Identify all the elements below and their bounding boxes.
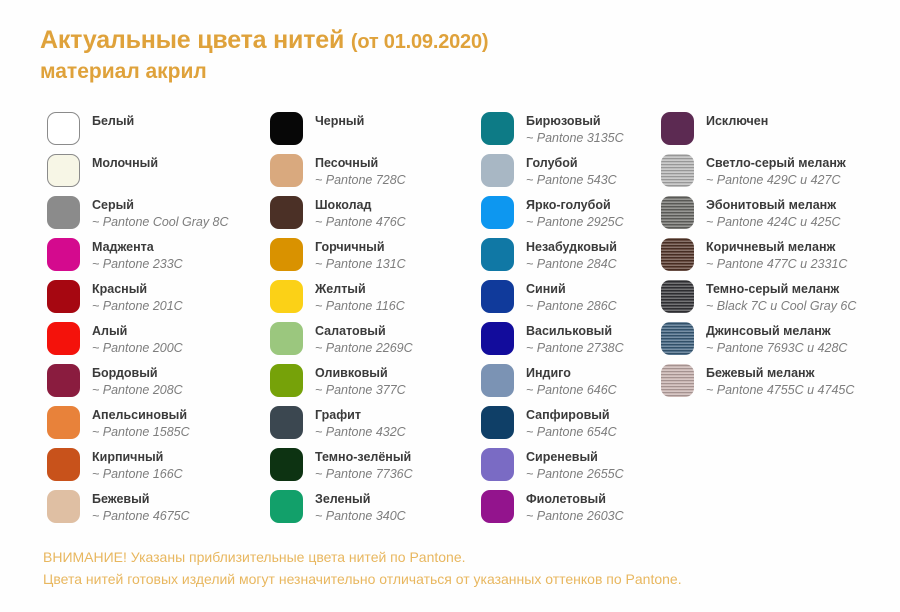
color-labels: Апельсиновый~ Pantone 1585C bbox=[92, 406, 190, 440]
color-row: Молочный bbox=[47, 154, 262, 196]
color-labels: Голубой~ Pantone 543C bbox=[526, 154, 617, 188]
color-labels: Эбонитовый меланж~ Pantone 424C и 425C bbox=[706, 196, 840, 230]
color-name: Сапфировый bbox=[526, 407, 617, 423]
color-name: Темно-зелёный bbox=[315, 449, 413, 465]
color-labels: Сапфировый~ Pantone 654C bbox=[526, 406, 617, 440]
page-title: Актуальные цвета нитей (от 01.09.2020) bbox=[40, 26, 860, 57]
color-pantone-code: ~ Pantone 7736C bbox=[315, 466, 413, 482]
color-pantone-code: ~ Pantone 131C bbox=[315, 256, 406, 272]
color-swatch bbox=[47, 490, 80, 523]
color-pantone-code: ~ Pantone 429C и 427C bbox=[706, 172, 846, 188]
color-labels: Черный bbox=[315, 112, 364, 129]
color-row: Маджента~ Pantone 233C bbox=[47, 238, 262, 280]
color-name: Светло-серый меланж bbox=[706, 155, 846, 171]
color-row: Незабудковый~ Pantone 284C bbox=[481, 238, 661, 280]
color-labels: Темно-зелёный~ Pantone 7736C bbox=[315, 448, 413, 482]
color-name: Индиго bbox=[526, 365, 617, 381]
color-pantone-code: ~ Pantone 3135C bbox=[526, 130, 624, 146]
color-swatch bbox=[661, 112, 694, 145]
color-labels: Васильковый~ Pantone 2738C bbox=[526, 322, 624, 356]
color-swatch bbox=[661, 154, 694, 187]
color-name: Голубой bbox=[526, 155, 617, 171]
color-pantone-code: ~ Pantone Cool Gray 8C bbox=[92, 214, 229, 230]
color-column-2: ЧерныйПесочный~ Pantone 728CШоколад~ Pan… bbox=[270, 112, 480, 532]
color-swatch bbox=[661, 322, 694, 355]
page-title-main: Актуальные цвета нитей bbox=[40, 26, 344, 54]
color-pantone-code: ~ Pantone 2925C bbox=[526, 214, 624, 230]
color-row: Салатовый~ Pantone 2269C bbox=[270, 322, 480, 364]
color-name: Васильковый bbox=[526, 323, 624, 339]
color-row: Эбонитовый меланж~ Pantone 424C и 425C bbox=[661, 196, 896, 238]
color-swatch bbox=[47, 196, 80, 229]
color-row: Графит~ Pantone 432C bbox=[270, 406, 480, 448]
color-name: Джинсовый меланж bbox=[706, 323, 847, 339]
color-pantone-code: ~ Pantone 543C bbox=[526, 172, 617, 188]
color-row: Коричневый меланж~ Pantone 477C и 2331C bbox=[661, 238, 896, 280]
color-pantone-code: ~ Pantone 233C bbox=[92, 256, 183, 272]
color-row: Бирюзовый~ Pantone 3135C bbox=[481, 112, 661, 154]
color-row: Горчичный~ Pantone 131C bbox=[270, 238, 480, 280]
color-row: Ярко-голубой~ Pantone 2925C bbox=[481, 196, 661, 238]
color-labels: Джинсовый меланж~ Pantone 7693C и 428C bbox=[706, 322, 847, 356]
color-name: Незабудковый bbox=[526, 239, 617, 255]
color-swatch bbox=[270, 238, 303, 271]
color-labels: Желтый~ Pantone 116C bbox=[315, 280, 405, 314]
color-pantone-code: ~ Pantone 166C bbox=[92, 466, 183, 482]
color-swatch bbox=[270, 280, 303, 313]
color-swatch bbox=[47, 364, 80, 397]
color-pantone-code: ~ Pantone 2269C bbox=[315, 340, 413, 356]
color-row: Шоколад~ Pantone 476C bbox=[270, 196, 480, 238]
color-pantone-code: ~ Pantone 208C bbox=[92, 382, 183, 398]
color-pantone-code: ~ Pantone 1585C bbox=[92, 424, 190, 440]
color-swatch bbox=[481, 280, 514, 313]
color-row: Исключен bbox=[661, 112, 896, 154]
color-swatch bbox=[270, 112, 303, 145]
color-name: Кирпичный bbox=[92, 449, 183, 465]
color-swatch bbox=[661, 280, 694, 313]
color-labels: Салатовый~ Pantone 2269C bbox=[315, 322, 413, 356]
color-row: Алый~ Pantone 200C bbox=[47, 322, 262, 364]
color-swatch bbox=[270, 448, 303, 481]
color-labels: Песочный~ Pantone 728C bbox=[315, 154, 406, 188]
color-swatch bbox=[481, 448, 514, 481]
color-swatch bbox=[270, 196, 303, 229]
color-column-1: БелыйМолочныйСерый~ Pantone Cool Gray 8C… bbox=[47, 112, 262, 532]
color-name: Салатовый bbox=[315, 323, 413, 339]
color-pantone-code: ~ Pantone 4675C bbox=[92, 508, 190, 524]
color-swatch bbox=[270, 322, 303, 355]
color-name: Фиолетовый bbox=[526, 491, 624, 507]
color-swatch bbox=[47, 322, 80, 355]
color-swatch bbox=[481, 238, 514, 271]
color-row: Сиреневый~ Pantone 2655C bbox=[481, 448, 661, 490]
color-pantone-code: ~ Pantone 4755C и 4745C bbox=[706, 382, 854, 398]
color-pantone-code: ~ Pantone 284C bbox=[526, 256, 617, 272]
color-row: Кирпичный~ Pantone 166C bbox=[47, 448, 262, 490]
color-row: Индиго~ Pantone 646C bbox=[481, 364, 661, 406]
color-pantone-code: ~ Pantone 201C bbox=[92, 298, 183, 314]
color-labels: Белый bbox=[92, 112, 134, 129]
color-row: Апельсиновый~ Pantone 1585C bbox=[47, 406, 262, 448]
color-swatch bbox=[481, 112, 514, 145]
color-row: Серый~ Pantone Cool Gray 8C bbox=[47, 196, 262, 238]
color-labels: Фиолетовый~ Pantone 2603C bbox=[526, 490, 624, 524]
color-swatch bbox=[270, 406, 303, 439]
color-row: Оливковый~ Pantone 377C bbox=[270, 364, 480, 406]
color-swatch bbox=[47, 448, 80, 481]
color-swatch bbox=[47, 154, 80, 187]
color-name: Горчичный bbox=[315, 239, 406, 255]
color-swatch bbox=[661, 196, 694, 229]
color-row: Бордовый~ Pantone 208C bbox=[47, 364, 262, 406]
color-name: Бежевый меланж bbox=[706, 365, 854, 381]
color-row: Песочный~ Pantone 728C bbox=[270, 154, 480, 196]
color-row: Голубой~ Pantone 543C bbox=[481, 154, 661, 196]
color-row: Синий~ Pantone 286C bbox=[481, 280, 661, 322]
color-labels: Бежевый меланж~ Pantone 4755C и 4745C bbox=[706, 364, 854, 398]
color-name: Апельсиновый bbox=[92, 407, 190, 423]
color-name: Сиреневый bbox=[526, 449, 624, 465]
color-labels: Алый~ Pantone 200C bbox=[92, 322, 183, 356]
color-name: Зеленый bbox=[315, 491, 406, 507]
color-labels: Маджента~ Pantone 233C bbox=[92, 238, 183, 272]
color-pantone-code: ~ Pantone 200C bbox=[92, 340, 183, 356]
color-row: Бежевый~ Pantone 4675C bbox=[47, 490, 262, 532]
color-swatch bbox=[270, 490, 303, 523]
page-header: Актуальные цвета нитей (от 01.09.2020) м… bbox=[40, 26, 860, 85]
color-name: Алый bbox=[92, 323, 183, 339]
color-swatch bbox=[270, 364, 303, 397]
color-name: Ярко-голубой bbox=[526, 197, 624, 213]
color-row: Васильковый~ Pantone 2738C bbox=[481, 322, 661, 364]
color-row: Желтый~ Pantone 116C bbox=[270, 280, 480, 322]
color-pantone-code: ~ Pantone 654C bbox=[526, 424, 617, 440]
color-name: Бежевый bbox=[92, 491, 190, 507]
color-pantone-code: ~ Pantone 7693C и 428C bbox=[706, 340, 847, 356]
color-labels: Бирюзовый~ Pantone 3135C bbox=[526, 112, 624, 146]
color-name: Красный bbox=[92, 281, 183, 297]
color-labels: Темно-серый меланж~ Black 7C и Cool Gray… bbox=[706, 280, 856, 314]
color-row: Черный bbox=[270, 112, 480, 154]
color-row: Белый bbox=[47, 112, 262, 154]
color-name: Оливковый bbox=[315, 365, 406, 381]
color-column-3: Бирюзовый~ Pantone 3135CГолубой~ Pantone… bbox=[481, 112, 661, 532]
color-row: Сапфировый~ Pantone 654C bbox=[481, 406, 661, 448]
color-column-4: ИсключенСветло-серый меланж~ Pantone 429… bbox=[661, 112, 896, 406]
color-name: Коричневый меланж bbox=[706, 239, 847, 255]
color-swatch bbox=[481, 490, 514, 523]
color-labels: Молочный bbox=[92, 154, 158, 171]
color-row: Зеленый~ Pantone 340C bbox=[270, 490, 480, 532]
color-name: Черный bbox=[315, 113, 364, 129]
color-swatch bbox=[481, 406, 514, 439]
color-swatch bbox=[47, 112, 80, 145]
color-labels: Коричневый меланж~ Pantone 477C и 2331C bbox=[706, 238, 847, 272]
color-pantone-code: ~ Pantone 377C bbox=[315, 382, 406, 398]
color-name: Бордовый bbox=[92, 365, 183, 381]
color-row: Джинсовый меланж~ Pantone 7693C и 428C bbox=[661, 322, 896, 364]
color-labels: Ярко-голубой~ Pantone 2925C bbox=[526, 196, 624, 230]
color-labels: Серый~ Pantone Cool Gray 8C bbox=[92, 196, 229, 230]
color-name: Маджента bbox=[92, 239, 183, 255]
color-swatch bbox=[481, 154, 514, 187]
color-chart-page: Актуальные цвета нитей (от 01.09.2020) м… bbox=[0, 0, 900, 612]
color-name: Синий bbox=[526, 281, 617, 297]
color-pantone-code: ~ Pantone 477C и 2331C bbox=[706, 256, 847, 272]
color-row: Бежевый меланж~ Pantone 4755C и 4745C bbox=[661, 364, 896, 406]
color-labels: Бежевый~ Pantone 4675C bbox=[92, 490, 190, 524]
color-row: Фиолетовый~ Pantone 2603C bbox=[481, 490, 661, 532]
color-labels: Индиго~ Pantone 646C bbox=[526, 364, 617, 398]
color-row: Темно-серый меланж~ Black 7C и Cool Gray… bbox=[661, 280, 896, 322]
color-swatch bbox=[47, 406, 80, 439]
color-labels: Кирпичный~ Pantone 166C bbox=[92, 448, 183, 482]
color-name: Темно-серый меланж bbox=[706, 281, 856, 297]
color-pantone-code: ~ Pantone 340C bbox=[315, 508, 406, 524]
color-name: Белый bbox=[92, 113, 134, 129]
color-swatch bbox=[481, 196, 514, 229]
disclaimer-note: ВНИМАНИЕ! Указаны приблизительные цвета … bbox=[43, 546, 863, 590]
color-labels: Красный~ Pantone 201C bbox=[92, 280, 183, 314]
color-pantone-code: ~ Black 7C и Cool Gray 6C bbox=[706, 298, 856, 314]
color-name: Молочный bbox=[92, 155, 158, 171]
color-name: Песочный bbox=[315, 155, 406, 171]
disclaimer-line-2: Цвета нитей готовых изделий могут незнач… bbox=[43, 568, 863, 590]
color-labels: Бордовый~ Pantone 208C bbox=[92, 364, 183, 398]
color-labels: Зеленый~ Pantone 340C bbox=[315, 490, 406, 524]
color-name: Бирюзовый bbox=[526, 113, 624, 129]
color-name: Графит bbox=[315, 407, 406, 423]
color-name: Шоколад bbox=[315, 197, 406, 213]
color-labels: Графит~ Pantone 432C bbox=[315, 406, 406, 440]
color-labels: Шоколад~ Pantone 476C bbox=[315, 196, 406, 230]
color-swatch bbox=[481, 364, 514, 397]
color-pantone-code: ~ Pantone 646C bbox=[526, 382, 617, 398]
color-swatch bbox=[661, 364, 694, 397]
color-pantone-code: ~ Pantone 728C bbox=[315, 172, 406, 188]
color-labels: Синий~ Pantone 286C bbox=[526, 280, 617, 314]
color-labels: Оливковый~ Pantone 377C bbox=[315, 364, 406, 398]
color-name: Желтый bbox=[315, 281, 405, 297]
color-labels: Светло-серый меланж~ Pantone 429C и 427C bbox=[706, 154, 846, 188]
color-row: Светло-серый меланж~ Pantone 429C и 427C bbox=[661, 154, 896, 196]
disclaimer-line-1: ВНИМАНИЕ! Указаны приблизительные цвета … bbox=[43, 546, 863, 568]
color-pantone-code: ~ Pantone 476C bbox=[315, 214, 406, 230]
color-labels: Незабудковый~ Pantone 284C bbox=[526, 238, 617, 272]
color-swatch bbox=[270, 154, 303, 187]
color-row: Красный~ Pantone 201C bbox=[47, 280, 262, 322]
color-pantone-code: ~ Pantone 116C bbox=[315, 298, 405, 314]
color-pantone-code: ~ Pantone 286C bbox=[526, 298, 617, 314]
color-row: Темно-зелёный~ Pantone 7736C bbox=[270, 448, 480, 490]
color-swatch bbox=[481, 322, 514, 355]
color-pantone-code: ~ Pantone 424C и 425C bbox=[706, 214, 840, 230]
color-swatch bbox=[661, 238, 694, 271]
color-name: Эбонитовый меланж bbox=[706, 197, 840, 213]
color-swatch bbox=[47, 280, 80, 313]
color-pantone-code: ~ Pantone 2738C bbox=[526, 340, 624, 356]
color-name: Исключен bbox=[706, 113, 768, 129]
color-labels: Горчичный~ Pantone 131C bbox=[315, 238, 406, 272]
color-pantone-code: ~ Pantone 2603C bbox=[526, 508, 624, 524]
page-subtitle: материал акрил bbox=[40, 59, 860, 85]
color-swatch bbox=[47, 238, 80, 271]
color-pantone-code: ~ Pantone 2655C bbox=[526, 466, 624, 482]
color-columns: БелыйМолочныйСерый~ Pantone Cool Gray 8C… bbox=[0, 112, 900, 522]
color-labels: Исключен bbox=[706, 112, 768, 129]
color-pantone-code: ~ Pantone 432C bbox=[315, 424, 406, 440]
color-name: Серый bbox=[92, 197, 229, 213]
color-labels: Сиреневый~ Pantone 2655C bbox=[526, 448, 624, 482]
page-title-date: (от 01.09.2020) bbox=[351, 31, 489, 53]
